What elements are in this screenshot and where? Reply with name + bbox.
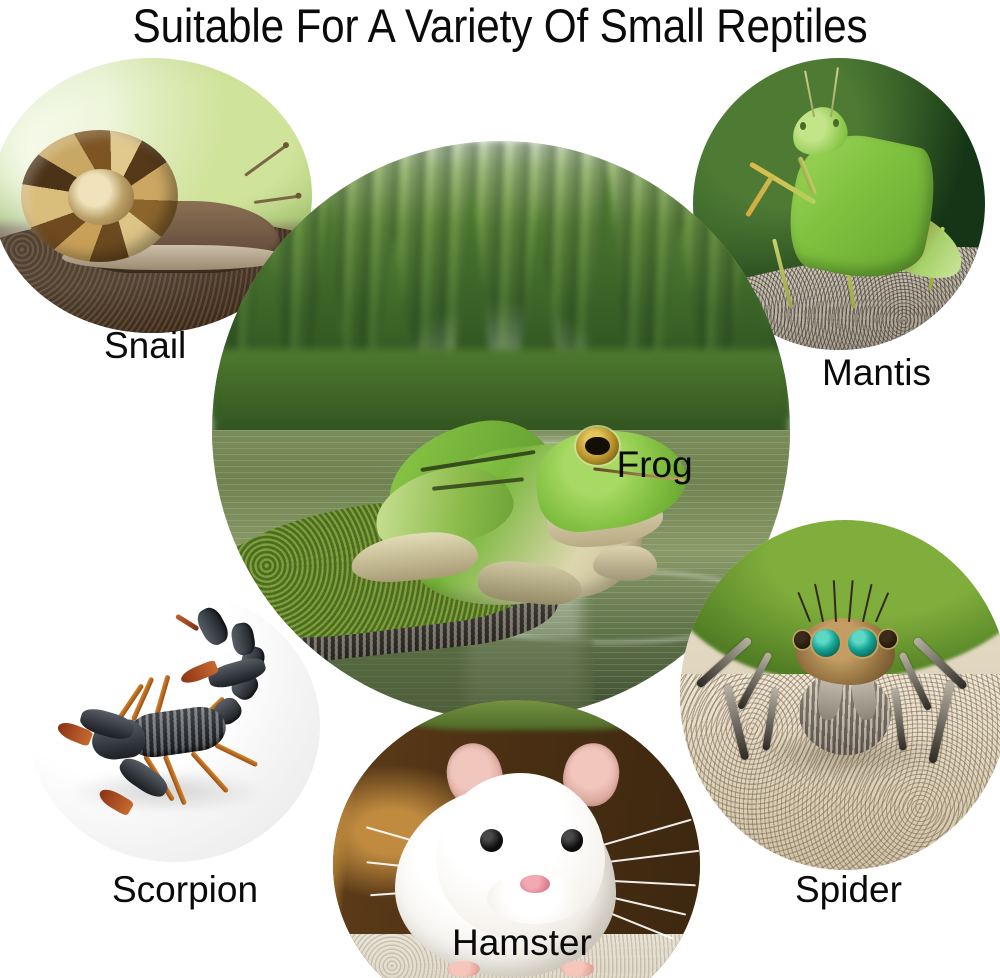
label-hamster: Hamster — [452, 922, 592, 964]
scorpion-telson — [194, 604, 233, 649]
hamster-eye-right — [561, 829, 584, 852]
hamster-eye-left — [480, 829, 503, 852]
pincer-claw — [97, 785, 135, 816]
scorpion-stinger — [175, 613, 200, 631]
mantis-eye-left — [800, 122, 806, 130]
spider-principal-eye-left — [812, 629, 840, 657]
scorpion-leg — [214, 743, 258, 768]
frog-hand — [593, 546, 657, 581]
label-spider: Spider — [795, 869, 902, 911]
foliage-strip — [384, 700, 670, 730]
label-snail: Snail — [104, 325, 186, 367]
label-mantis: Mantis — [822, 352, 931, 394]
label-frog: Frog — [617, 444, 693, 486]
collage-canvas: Suitable For A Variety Of Small Reptiles — [0, 0, 1000, 978]
mantis-antenna-right — [830, 67, 839, 116]
page-title: Suitable For A Variety Of Small Reptiles — [50, 0, 950, 54]
scorpion-pincer-upper — [180, 650, 279, 704]
spider-cephalothorax — [796, 618, 895, 685]
hamster-nose — [520, 875, 549, 893]
spider-lateral-eye-left — [794, 631, 812, 649]
scorpion-image-circle[interactable] — [28, 590, 320, 862]
scorpion-pincer-left — [57, 699, 145, 759]
spider-image-circle[interactable] — [680, 520, 1000, 870]
scorpion-pincer-lower — [98, 759, 186, 824]
frog-pupil — [585, 437, 609, 455]
label-scorpion: Scorpion — [112, 869, 258, 911]
pincer-arm — [115, 754, 172, 803]
snail-shell — [21, 130, 178, 262]
snail-shell-apex — [68, 169, 134, 224]
spider-principal-eye-right — [848, 629, 876, 657]
